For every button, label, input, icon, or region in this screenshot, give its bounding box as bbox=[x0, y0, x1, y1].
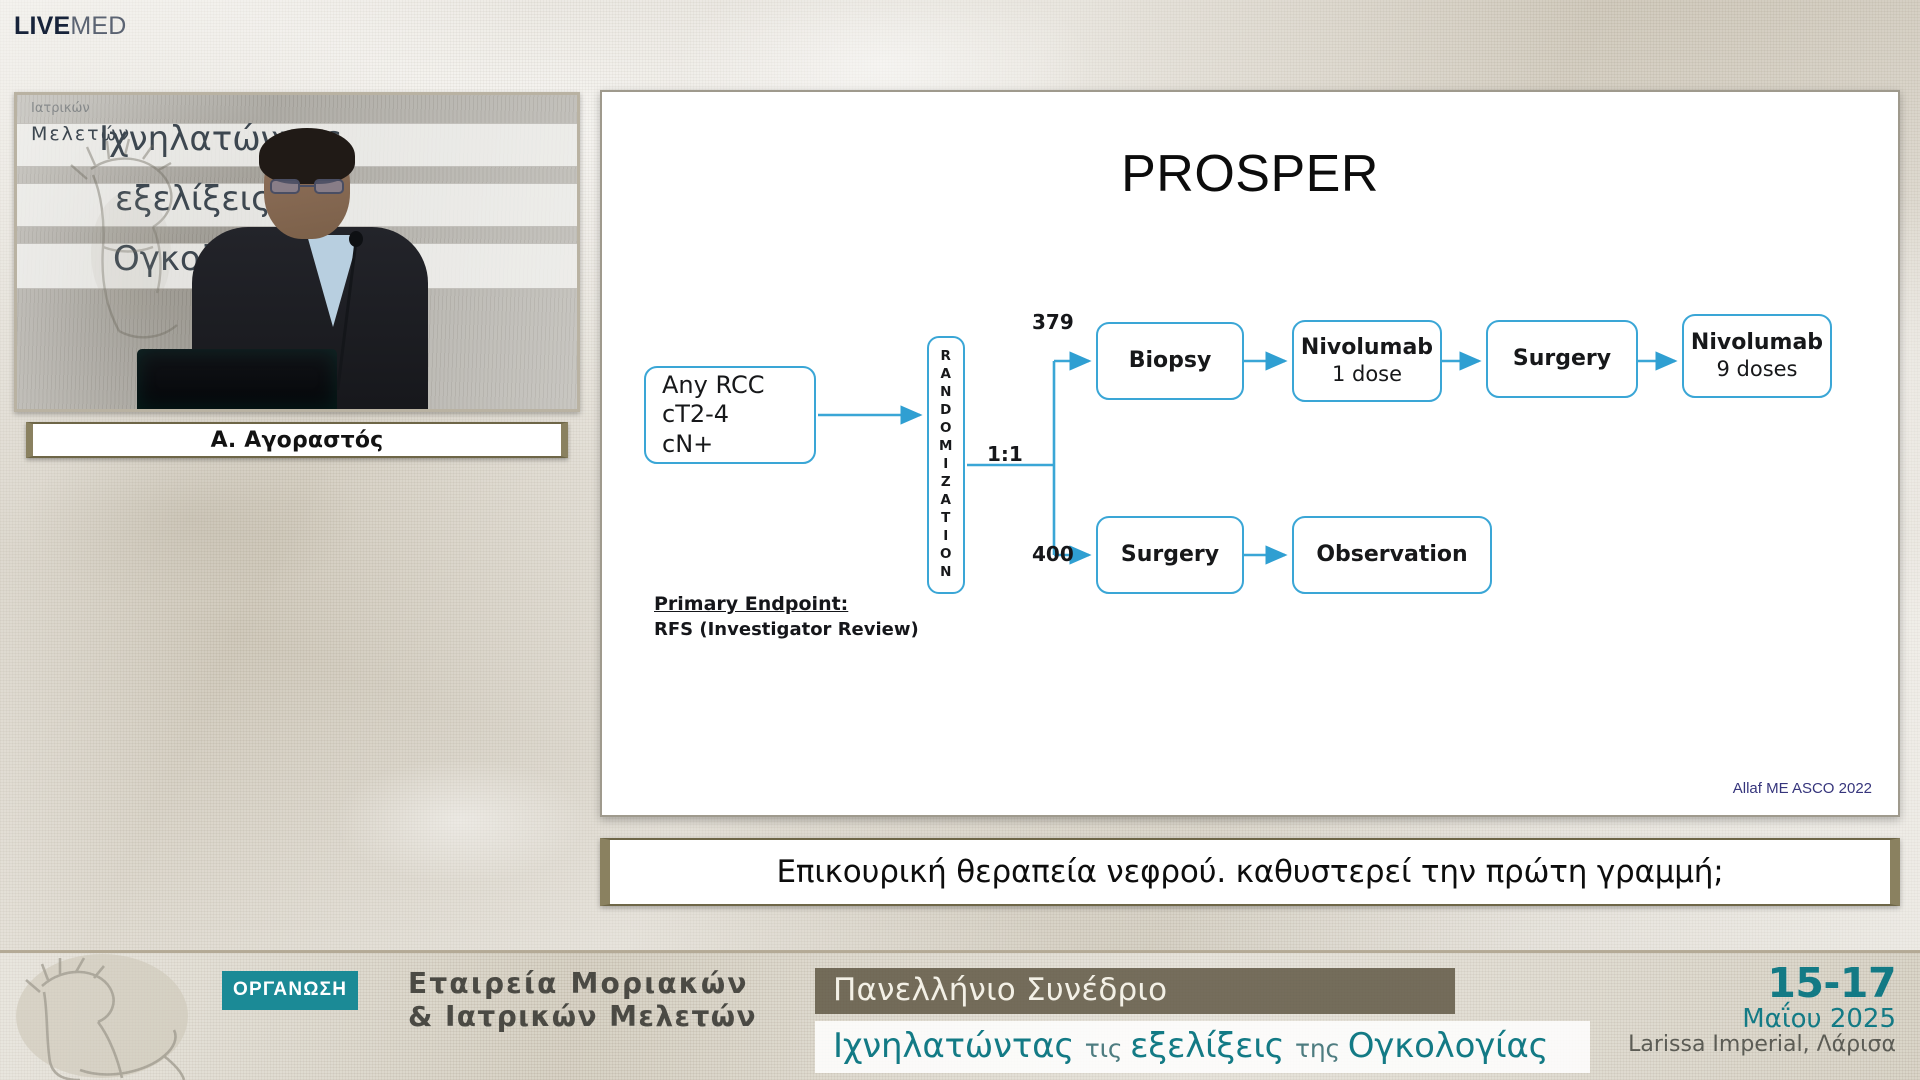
randomization-letter: I bbox=[939, 456, 953, 474]
nivolumab9-label: Nivolumab bbox=[1691, 330, 1823, 357]
logo-text-live: LIVE bbox=[14, 12, 70, 40]
flow-label-arm-b-count: 400 bbox=[1032, 542, 1074, 566]
conference-date-block: 15-17 Μαΐου 2025 Larissa Imperial, Λάρισ… bbox=[1628, 961, 1896, 1057]
conf-l2-part-e: Ογκολογίας bbox=[1348, 1026, 1549, 1066]
flow-box-observation: Observation bbox=[1292, 516, 1492, 594]
presentation-slide-panel[interactable]: PROSPER bbox=[600, 90, 1900, 817]
surgery-b-label: Surgery bbox=[1121, 542, 1219, 569]
primary-endpoint-title: Primary Endpoint: bbox=[654, 592, 919, 618]
flow-box-surgery-arm-b: Surgery bbox=[1096, 516, 1244, 594]
conf-l2-part-a: Ιχνηλατώντας bbox=[833, 1026, 1085, 1066]
flow-box-randomization: RANDOMIZATION bbox=[927, 336, 965, 594]
conference-venue: Larissa Imperial, Λάρισα bbox=[1628, 1033, 1896, 1057]
randomization-letter: N bbox=[939, 564, 953, 582]
primary-endpoint-detail: RFS (Investigator Review) bbox=[654, 618, 919, 642]
conf-l2-part-d: της bbox=[1295, 1034, 1348, 1063]
conf-l2-part-b: τις bbox=[1085, 1034, 1130, 1063]
randomization-letter: Z bbox=[939, 474, 953, 492]
flow-box-nivolumab-9-doses: Nivolumab 9 doses bbox=[1682, 314, 1832, 398]
slide-citation: Allaf ME ASCO 2022 bbox=[1733, 780, 1872, 797]
organizer-name-line1: Εταιρεία Μοριακών bbox=[408, 967, 757, 1000]
population-line-2: cT2-4 bbox=[662, 400, 729, 429]
conference-title-line1: Πανελλήνιο Συνέδριο bbox=[815, 968, 1455, 1014]
flow-box-surgery-arm-a: Surgery bbox=[1486, 320, 1638, 398]
population-line-3: cN+ bbox=[662, 430, 713, 459]
conference-footer: ΟΡΓΑΝΩΣΗ Εταιρεία Μοριακών & Ιατρικών Με… bbox=[0, 950, 1920, 1080]
livemed-logo: LIVEMED bbox=[14, 14, 127, 39]
population-line-1: Any RCC bbox=[662, 371, 764, 400]
speaker-glasses bbox=[270, 179, 344, 194]
randomization-letters: RANDOMIZATION bbox=[939, 348, 953, 581]
conference-month: Μαΐου 2025 bbox=[1628, 1005, 1896, 1033]
randomization-letter: R bbox=[939, 348, 953, 366]
conference-title-line2: Ιχνηλατώντας τις εξελίξεις της Ογκολογία… bbox=[815, 1021, 1590, 1073]
flow-box-nivolumab-1-dose: Nivolumab 1 dose bbox=[1292, 320, 1442, 402]
randomization-letter: D bbox=[939, 402, 953, 420]
randomization-letter: A bbox=[939, 366, 953, 384]
flow-label-arm-a-count: 379 bbox=[1032, 310, 1074, 334]
conference-dates: 15-17 bbox=[1628, 961, 1896, 1005]
randomization-letter: O bbox=[939, 546, 953, 564]
nivolumab9-dose: 9 doses bbox=[1716, 357, 1797, 383]
primary-endpoint-block: Primary Endpoint: RFS (Investigator Revi… bbox=[654, 592, 919, 642]
randomization-letter: T bbox=[939, 510, 953, 528]
randomization-letter: N bbox=[939, 384, 953, 402]
speaker-video-panel[interactable]: Ιατρικών Μελετών Ιχνηλατώντας εξελίξεις … bbox=[14, 92, 580, 412]
randomization-letter: O bbox=[939, 420, 953, 438]
randomization-letter: M bbox=[939, 438, 953, 456]
organizer-name-line2: & Ιατρικών Μελετών bbox=[408, 1000, 757, 1033]
prosper-trial-flow-diagram: Any RCC cT2-4 cN+ RANDOMIZATION 1:1 379 … bbox=[602, 92, 1900, 817]
nivolumab1-label: Nivolumab bbox=[1301, 335, 1433, 362]
speaker-name-text: Α. Αγοραστός bbox=[211, 428, 384, 453]
conf-l2-part-c: εξελίξεις bbox=[1130, 1026, 1295, 1066]
flow-box-biopsy: Biopsy bbox=[1096, 322, 1244, 400]
logo-text-med: MED bbox=[70, 12, 126, 40]
speaker-nameplate: Α. Αγοραστός bbox=[26, 422, 568, 458]
flow-label-ratio: 1:1 bbox=[987, 442, 1023, 466]
session-caption-bar: Επικουρική θεραπεία νεφρού. καθυστερεί τ… bbox=[600, 838, 1900, 906]
laptop-screen bbox=[137, 349, 337, 409]
organizer-badge: ΟΡΓΑΝΩΣΗ bbox=[222, 971, 358, 1010]
flow-box-population: Any RCC cT2-4 cN+ bbox=[644, 366, 816, 464]
randomization-letter: I bbox=[939, 528, 953, 546]
horse-relief-artwork bbox=[57, 135, 207, 365]
observation-label: Observation bbox=[1316, 542, 1467, 569]
horse-relief-icon bbox=[6, 952, 196, 1080]
speaker-hair bbox=[259, 128, 355, 184]
organizer-name: Εταιρεία Μοριακών & Ιατρικών Μελετών bbox=[408, 967, 757, 1033]
biopsy-label: Biopsy bbox=[1129, 348, 1212, 375]
backdrop-text-faint: Ιατρικών bbox=[31, 101, 90, 116]
surgery-a-label: Surgery bbox=[1513, 346, 1611, 373]
microphone-head bbox=[349, 231, 363, 247]
randomization-letter: A bbox=[939, 492, 953, 510]
session-caption-text: Επικουρική θεραπεία νεφρού. καθυστερεί τ… bbox=[777, 854, 1724, 890]
nivolumab1-dose: 1 dose bbox=[1332, 362, 1402, 388]
